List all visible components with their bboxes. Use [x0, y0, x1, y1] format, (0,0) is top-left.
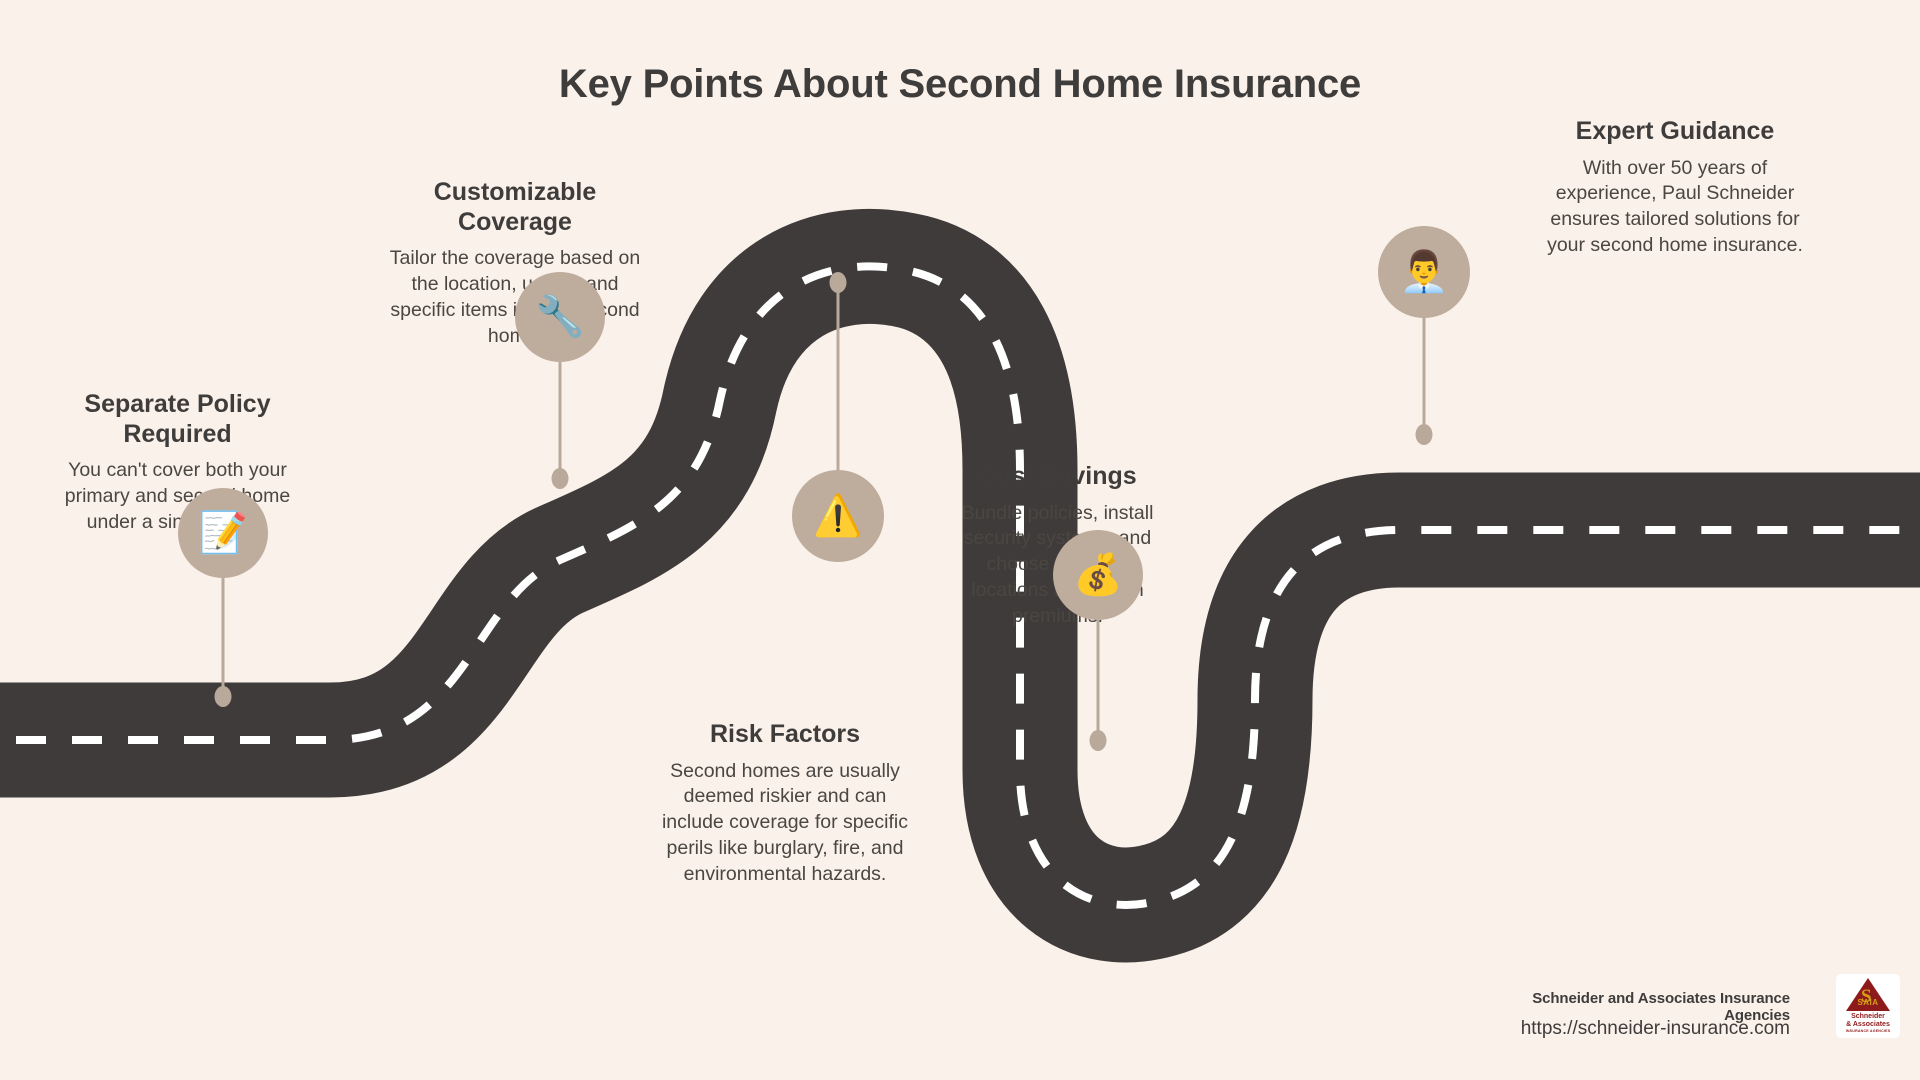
marker-road-dot — [1090, 730, 1107, 751]
point-title: Separate Policy Required — [55, 390, 300, 449]
memo-icon[interactable]: 📝 — [178, 488, 268, 578]
money-bag-icon[interactable]: 💰 — [1053, 530, 1143, 620]
point-body: Second homes are usually deemed riskier … — [655, 759, 915, 889]
point-title: Expert Guidance — [1545, 117, 1805, 147]
logo-triangle-icon: S SAIA — [1846, 978, 1890, 1011]
point-block-expert-guidance: Expert Guidance With over 50 years of ex… — [1545, 117, 1805, 259]
marker-stem — [1423, 316, 1426, 441]
marker-road-dot — [215, 686, 232, 707]
marker-customizable-coverage[interactable]: 🔧 — [515, 272, 605, 494]
footer: Schneider and Associates Insurance Agenc… — [1480, 960, 1900, 1055]
logo-name-line2: & Associates — [1838, 1021, 1898, 1029]
company-logo[interactable]: S SAIA Schneider & Associates INSURANCE … — [1836, 974, 1900, 1038]
point-body: With over 50 years of experience, Paul S… — [1545, 156, 1805, 260]
footer-website-url[interactable]: https://schneider-insurance.com — [1490, 1018, 1790, 1040]
marker-expert-guidance[interactable]: 👨‍💼 — [1378, 226, 1470, 466]
infographic-canvas: Key Points About Second Home Insurance S… — [0, 0, 1920, 1080]
logo-name-line3: INSURANCE AGENCIES — [1838, 1029, 1898, 1033]
page-title: Key Points About Second Home Insurance — [0, 62, 1920, 107]
marker-separate-policy[interactable]: 📝 — [178, 488, 268, 710]
point-title: Risk Factors — [655, 720, 915, 750]
marker-stem — [559, 362, 562, 480]
point-block-risk-factors: Risk Factors Second homes are usually de… — [655, 720, 915, 888]
marker-cost-savings[interactable]: 💰 — [1053, 530, 1143, 770]
marker-stem — [837, 280, 840, 476]
point-title: Cost Savings — [955, 462, 1160, 492]
marker-road-dot — [1416, 424, 1433, 445]
logo-name-line1: Schneider — [1838, 1013, 1898, 1021]
marker-risk-factors[interactable]: ⚠️ — [792, 272, 884, 562]
point-title: Customizable Coverage — [385, 178, 645, 237]
warning-icon[interactable]: ⚠️ — [792, 470, 884, 562]
marker-stem — [1097, 620, 1100, 748]
businessman-icon[interactable]: 👨‍💼 — [1378, 226, 1470, 318]
marker-road-dot — [830, 272, 847, 293]
logo-company-name: Schneider & Associates INSURANCE AGENCIE… — [1838, 1013, 1898, 1033]
marker-road-dot — [552, 468, 569, 489]
marker-stem — [222, 578, 225, 698]
wrench-icon[interactable]: 🔧 — [515, 272, 605, 362]
logo-mark-text: SAIA — [1852, 998, 1884, 1007]
